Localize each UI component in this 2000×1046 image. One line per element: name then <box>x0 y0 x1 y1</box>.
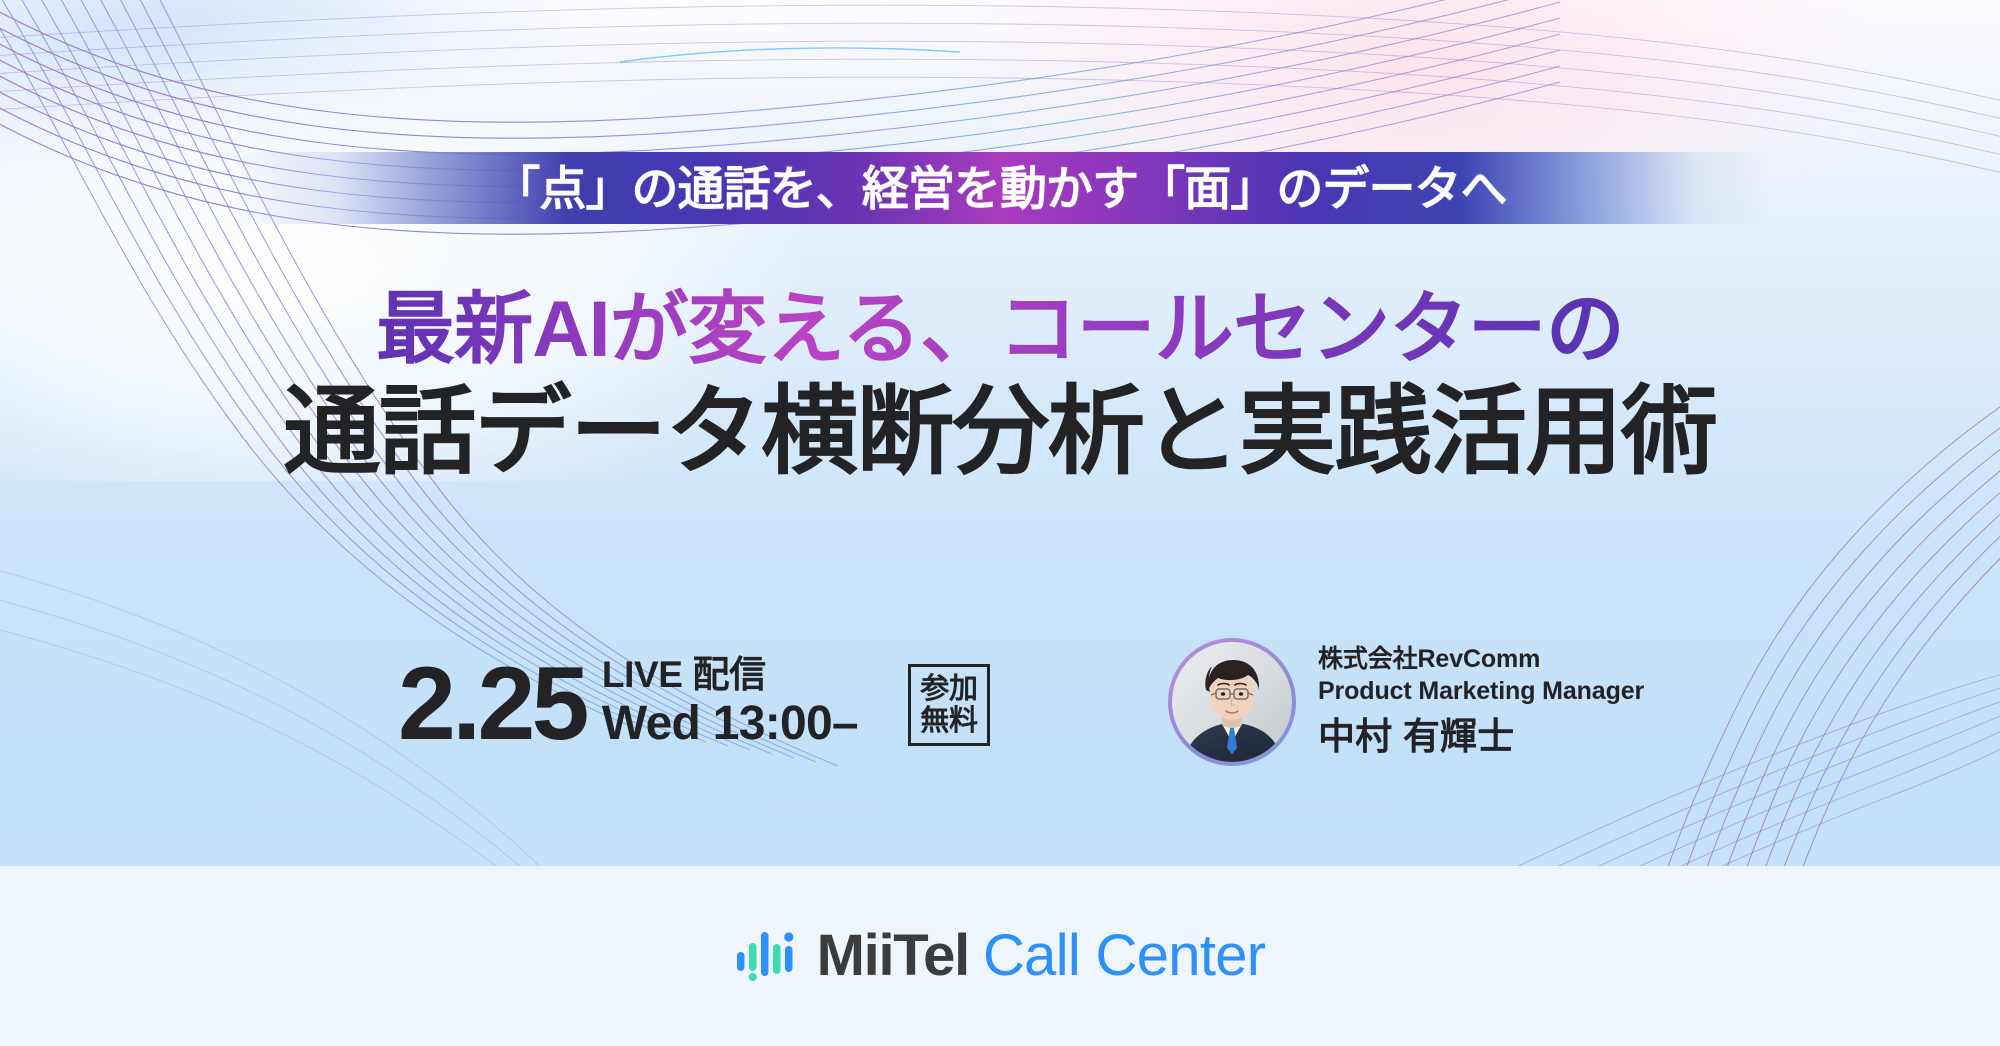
free-admission-badge: 参加 無料 <box>908 664 990 746</box>
event-info-row: 2.25 LIVE 配信 Wed 13:00– 参加 無料 <box>0 628 2000 828</box>
speaker-role: Product Marketing Manager <box>1318 676 1644 708</box>
live-label: LIVE 配信 <box>602 654 858 695</box>
event-time-group: LIVE 配信 Wed 13:00– <box>602 654 858 753</box>
logo-product-text: Call Center <box>983 927 1265 985</box>
free-badge-line-1: 参加 <box>920 673 977 705</box>
event-day-time: Wed 13:00– <box>602 698 858 751</box>
free-badge-line-2: 無料 <box>920 705 977 737</box>
event-date: 2.25 <box>398 652 586 756</box>
miitel-logo: MiiTel Call Center <box>735 927 1266 985</box>
subtitle-banner: 「点」の通話を、経営を動かす「面」のデータへ <box>230 152 1770 224</box>
speaker-name: 中村 有輝士 <box>1318 715 1644 759</box>
speaker-group: 株式会社RevComm Product Marketing Manager 中村… <box>1168 638 1644 766</box>
avatar-photo <box>1172 642 1292 762</box>
page-title: 最新AIが変える、コールセンターの 通話データ横断分析と実践活用術 <box>0 285 2000 488</box>
waveform-icon <box>735 930 799 982</box>
webinar-banner: 「点」の通話を、経営を動かす「面」のデータへ 最新AIが変える、コールセンターの… <box>0 0 2000 1046</box>
speaker-company: 株式会社RevComm <box>1318 644 1644 676</box>
banner-content: 「点」の通話を、経営を動かす「面」のデータへ 最新AIが変える、コールセンターの… <box>0 0 2000 1046</box>
logo-brand-text: MiiTel <box>817 927 969 985</box>
title-line-1: 最新AIが変える、コールセンターの <box>0 285 2000 373</box>
title-line-2: 通話データ横断分析と実践活用術 <box>0 377 2000 488</box>
speaker-details: 株式会社RevComm Product Marketing Manager 中村… <box>1318 644 1644 759</box>
subtitle-text: 「点」の通話を、経営を動かす「面」のデータへ <box>493 165 1506 212</box>
event-date-group: 2.25 LIVE 配信 Wed 13:00– <box>398 652 858 756</box>
avatar <box>1168 638 1296 766</box>
logo-band: MiiTel Call Center <box>0 866 2000 1046</box>
